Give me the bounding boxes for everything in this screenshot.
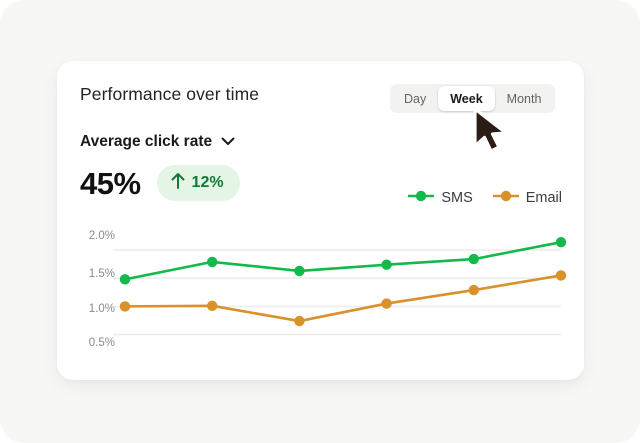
stat-value: 45%: [80, 168, 141, 199]
chart-plot-area: [71, 231, 571, 361]
data-point-sms[interactable]: [469, 254, 479, 264]
data-point-email[interactable]: [469, 285, 479, 295]
metric-dropdown[interactable]: Average click rate: [80, 133, 235, 151]
legend-marker-sms-icon: [408, 189, 434, 207]
status-badge: 12%: [157, 165, 240, 201]
chevron-down-icon: [221, 133, 235, 151]
data-point-sms[interactable]: [381, 260, 391, 270]
performance-card: Performance over time Day Week Month Ave…: [57, 61, 584, 380]
data-point-sms[interactable]: [120, 274, 130, 284]
tab-month[interactable]: Month: [495, 86, 554, 111]
chart-legend: SMS Email: [408, 189, 562, 207]
range-tab-group: Day Week Month: [390, 84, 555, 113]
data-point-email[interactable]: [556, 270, 566, 280]
legend-item-sms[interactable]: SMS: [408, 189, 472, 207]
legend-item-email[interactable]: Email: [493, 189, 562, 207]
legend-marker-email-icon: [493, 189, 519, 207]
delta-value: 12%: [192, 174, 224, 192]
data-point-email[interactable]: [294, 316, 304, 326]
data-point-sms[interactable]: [294, 266, 304, 276]
series-line-sms: [125, 242, 561, 279]
metric-dropdown-label: Average click rate: [80, 133, 212, 151]
series-line-email: [125, 275, 561, 321]
arrow-up-icon: [171, 172, 185, 194]
data-point-email[interactable]: [381, 298, 391, 308]
legend-label-sms: SMS: [441, 190, 472, 206]
data-point-email[interactable]: [207, 301, 217, 311]
data-point-sms[interactable]: [556, 237, 566, 247]
stat-summary: 45% 12%: [80, 165, 240, 201]
legend-label-email: Email: [526, 190, 562, 206]
app-page: Performance over time Day Week Month Ave…: [0, 0, 640, 443]
tab-day[interactable]: Day: [392, 86, 438, 111]
line-chart: 2.0% 1.5% 1.0% 0.5%: [71, 231, 571, 361]
page-title: Performance over time: [80, 84, 259, 105]
data-point-email[interactable]: [120, 301, 130, 311]
tab-week[interactable]: Week: [438, 86, 494, 111]
data-point-sms[interactable]: [207, 257, 217, 267]
